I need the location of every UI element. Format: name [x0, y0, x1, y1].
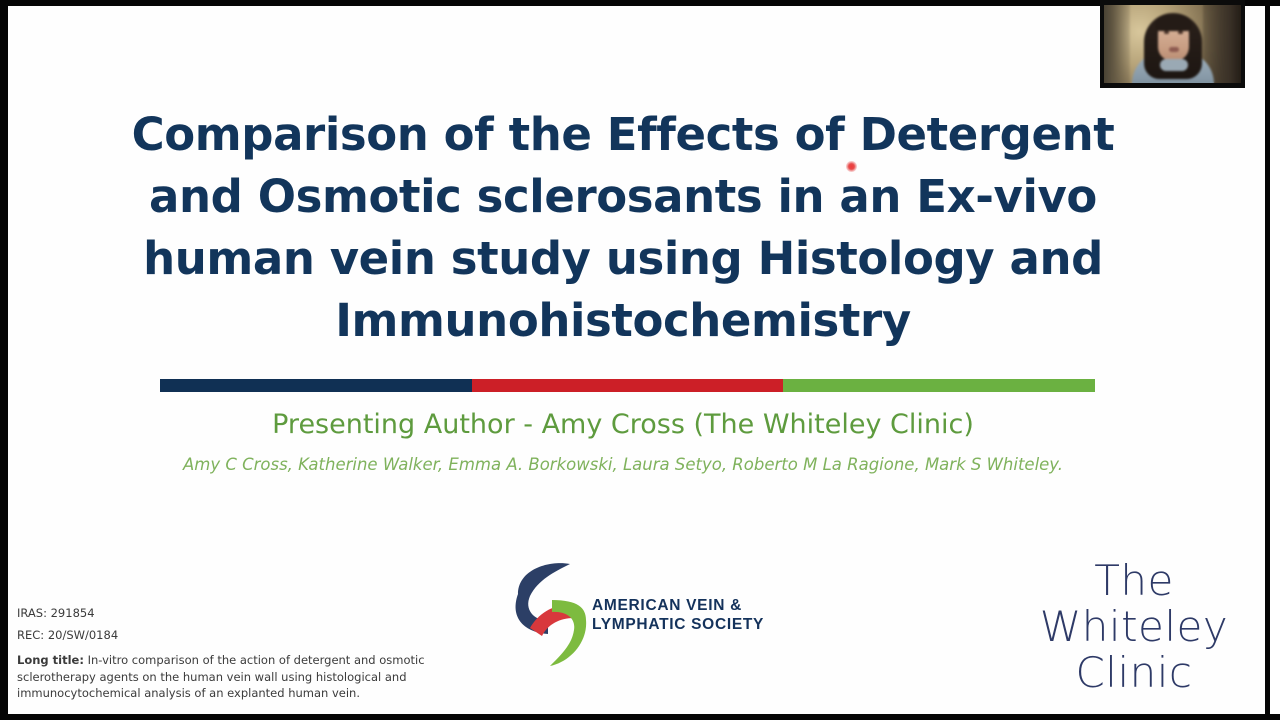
frame-border-left	[0, 0, 8, 720]
title-line-2: and Osmotic sclerosants in an Ex-vivo	[68, 166, 1178, 228]
whiteley-clinic-logo: The Whiteley Clinic	[1018, 558, 1250, 696]
avls-logo: AMERICAN VEIN & LYMPHATIC SOCIETY	[508, 558, 788, 670]
webcam-blur-overlay	[1104, 5, 1241, 83]
whiteley-logo-line-1: The	[1018, 558, 1250, 604]
avls-swirl-mark	[508, 558, 598, 670]
rec-number: REC: 20/SW/0184	[17, 624, 447, 646]
webcam-video-feed[interactable]	[1104, 5, 1241, 83]
iras-number: IRAS: 291854	[17, 602, 447, 624]
title-line-1: Comparison of the Effects of Detergent	[68, 104, 1178, 166]
divider-segment-red	[472, 379, 784, 392]
divider-segment-green	[783, 379, 1095, 392]
avls-text-line-2: LYMPHATIC SOCIETY	[592, 615, 764, 634]
whiteley-logo-line-2: Whiteley	[1018, 604, 1250, 650]
avls-mark-green-curve	[550, 600, 586, 666]
divider-segment-navy	[160, 379, 472, 392]
title-line-4: Immunohistochemistry	[68, 290, 1178, 352]
slide-canvas: Comparison of the Effects of Detergent a…	[8, 6, 1265, 714]
long-title-label: Long title:	[17, 653, 84, 667]
presenting-author-line: Presenting Author - Amy Cross (The White…	[68, 408, 1178, 442]
presenter-webcam-pip[interactable]	[1100, 0, 1245, 88]
author-list-line: Amy C Cross, Katherine Walker, Emma A. B…	[48, 454, 1198, 476]
avls-text-line-1: AMERICAN VEIN &	[592, 596, 764, 615]
frame-border-bottom	[0, 714, 1280, 720]
regulatory-info-block: IRAS: 291854 REC: 20/SW/0184 Long title:…	[17, 602, 447, 702]
frame-border-right	[1265, 0, 1270, 720]
slide-title: Comparison of the Effects of Detergent a…	[68, 104, 1178, 352]
presentation-video-player: Comparison of the Effects of Detergent a…	[0, 0, 1280, 720]
title-line-3: human vein study using Histology and	[68, 228, 1178, 290]
divider-bar	[160, 379, 1095, 392]
avls-logo-text: AMERICAN VEIN & LYMPHATIC SOCIETY	[592, 596, 764, 634]
long-title-text: Long title: In-vitro comparison of the a…	[17, 652, 437, 702]
red-laser-dot	[846, 161, 857, 172]
whiteley-logo-line-3: Clinic	[1018, 650, 1250, 696]
